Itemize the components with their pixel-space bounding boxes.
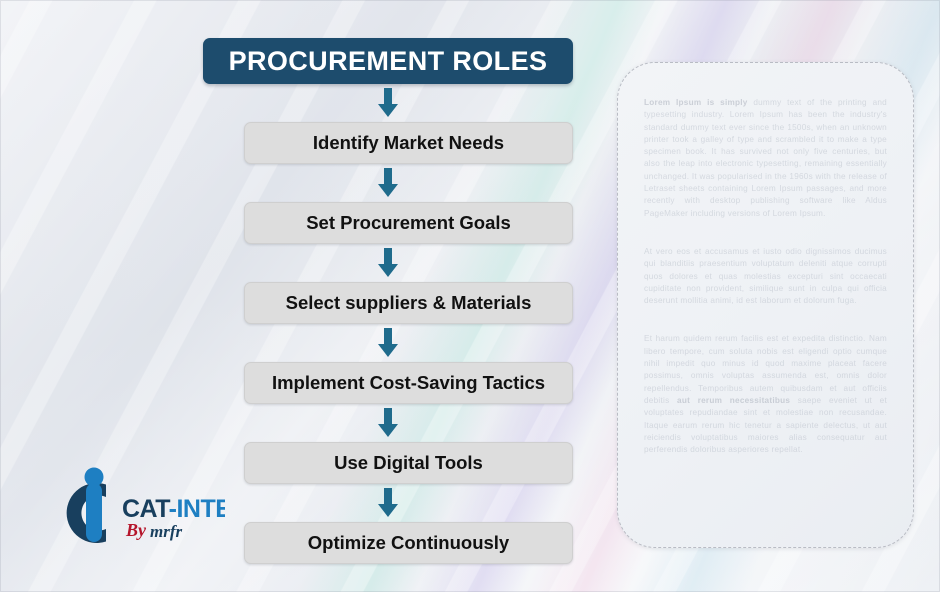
- flow-arrow-0: [203, 84, 573, 122]
- down-arrow-icon: [377, 408, 399, 438]
- placeholder-text-panel: Lorem Ipsum is simply dummy text of the …: [617, 62, 914, 548]
- logo-by-text: By: [125, 520, 147, 540]
- page-title: PROCUREMENT ROLES: [229, 46, 548, 77]
- flow-step-label: Set Procurement Goals: [306, 212, 511, 234]
- down-arrow-icon: [377, 168, 399, 198]
- panel-paragraph-2-body: At vero eos et accusamus et iusto odio d…: [644, 247, 887, 305]
- logo-dash-text: -: [169, 495, 177, 523]
- panel-paragraph-3: Et harum quidem rerum facilis est et exp…: [644, 333, 887, 456]
- panel-paragraph-3-emphasis: aut rerum necessitatibus: [677, 396, 790, 405]
- panel-paragraph-2: At vero eos et accusamus et iusto odio d…: [644, 246, 887, 307]
- flow-step-label: Select suppliers & Materials: [286, 292, 532, 314]
- flow-step-5[interactable]: Optimize Continuously: [244, 522, 573, 564]
- flow-step-label: Optimize Continuously: [308, 532, 509, 554]
- panel-paragraph-3-body: Et harum quidem rerum facilis est et exp…: [644, 334, 887, 404]
- flow-step-0[interactable]: Identify Market Needs: [244, 122, 573, 164]
- slide-canvas: PROCUREMENT ROLES Identify Market Needs …: [0, 0, 940, 592]
- down-arrow-icon: [377, 88, 399, 118]
- cat-intel-logo-icon: CAT-INTEL By mrfr: [50, 460, 225, 545]
- flow-step-2[interactable]: Select suppliers & Materials: [244, 282, 573, 324]
- flow-step-label: Use Digital Tools: [334, 452, 483, 474]
- flow-step-1[interactable]: Set Procurement Goals: [244, 202, 573, 244]
- flow-step-label: Implement Cost-Saving Tactics: [272, 372, 545, 394]
- logo-cat-text: CAT: [122, 495, 170, 523]
- panel-paragraph-1-body: dummy text of the printing and typesetti…: [644, 98, 887, 218]
- flow-arrow-3: [203, 324, 573, 362]
- flow-step-label: Identify Market Needs: [313, 132, 504, 154]
- flow-arrow-4: [203, 404, 573, 442]
- flow-step-4[interactable]: Use Digital Tools: [244, 442, 573, 484]
- svg-text:CAT-INTEL: CAT-INTEL: [122, 495, 225, 523]
- down-arrow-icon: [377, 328, 399, 358]
- flowchart-title-bar: PROCUREMENT ROLES: [203, 38, 573, 84]
- down-arrow-icon: [377, 248, 399, 278]
- flow-arrow-2: [203, 244, 573, 282]
- logo-mrfr-text: mrfr: [150, 522, 183, 541]
- panel-paragraph-1: Lorem Ipsum is simply dummy text of the …: [644, 97, 887, 220]
- down-arrow-icon: [377, 488, 399, 518]
- cat-intel-logo[interactable]: CAT-INTEL By mrfr: [50, 460, 225, 545]
- logo-intel-text: INTEL: [176, 495, 225, 523]
- flow-step-3[interactable]: Implement Cost-Saving Tactics: [244, 362, 573, 404]
- flow-arrow-1: [203, 164, 573, 202]
- procurement-flowchart: PROCUREMENT ROLES Identify Market Needs …: [203, 38, 573, 564]
- panel-paragraph-1-lead: Lorem Ipsum is simply: [644, 98, 748, 107]
- flow-arrow-5: [203, 484, 573, 522]
